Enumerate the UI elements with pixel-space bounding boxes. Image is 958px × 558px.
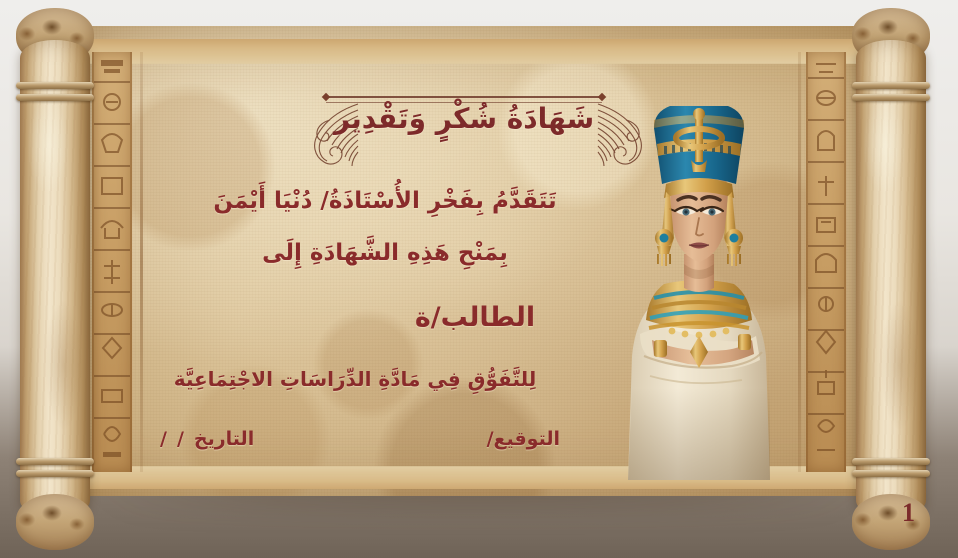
scroll-tube-right	[856, 40, 926, 518]
date-label: التاريخ	[194, 428, 254, 450]
date-slash-2: /	[160, 428, 167, 450]
scroll-cord-upper-left	[16, 82, 94, 89]
scroll-tube-left	[20, 40, 90, 518]
scroll-cord-upper-right	[852, 82, 930, 89]
scroll-cord-lower2-left	[16, 470, 94, 477]
scroll-roll-right	[852, 6, 930, 552]
certificate-body-line-1: تَتَقَدَّمُ بِفَخْرِ الأُسْتَاذَةُ/ دُنْ…	[150, 188, 620, 214]
scroll-cord-lower-left	[16, 458, 94, 465]
scroll-cord-upper2-right	[852, 94, 930, 101]
certificate-footer: التوقيع/ التاريخ / /	[160, 428, 560, 450]
certificate-title: شَهَادَةُ شُكْرٍ وَتَقْدِير	[300, 102, 628, 135]
nefertiti-figure	[592, 88, 802, 480]
scroll-cap-bottom-right	[852, 494, 930, 550]
certificate-canvas: شَهَادَةُ شُكْرٍ وَتَقْدِير تَتَقَدَّمُ …	[0, 0, 958, 558]
parchment-torn-top-edge	[70, 18, 892, 64]
scroll-roll-left	[16, 6, 94, 552]
border-rule-left	[140, 52, 143, 472]
signature-label: التوقيع/	[487, 428, 560, 450]
date-field-group: التاريخ / /	[160, 428, 254, 450]
student-name-label: الطالب/ة	[330, 302, 620, 333]
subject-achievement-line: لِلتَّفَوُّقِ فِي مَادَّةِ الدِّرَاسَاتِ…	[140, 367, 570, 391]
scroll-cap-bottom-left	[16, 494, 94, 550]
certificate-body-line-2: بِمَنْحِ هَذِهِ الشَّهَادَةِ إِلَى	[150, 240, 620, 266]
scroll-cord-lower-right	[852, 458, 930, 465]
date-slash-1: /	[177, 428, 184, 450]
scroll-cord-upper2-left	[16, 94, 94, 101]
hieroglyph-column-left	[92, 52, 132, 472]
hieroglyph-column-right	[806, 52, 846, 472]
scroll-cord-lower2-right	[852, 470, 930, 477]
page-number: 1	[902, 498, 915, 528]
